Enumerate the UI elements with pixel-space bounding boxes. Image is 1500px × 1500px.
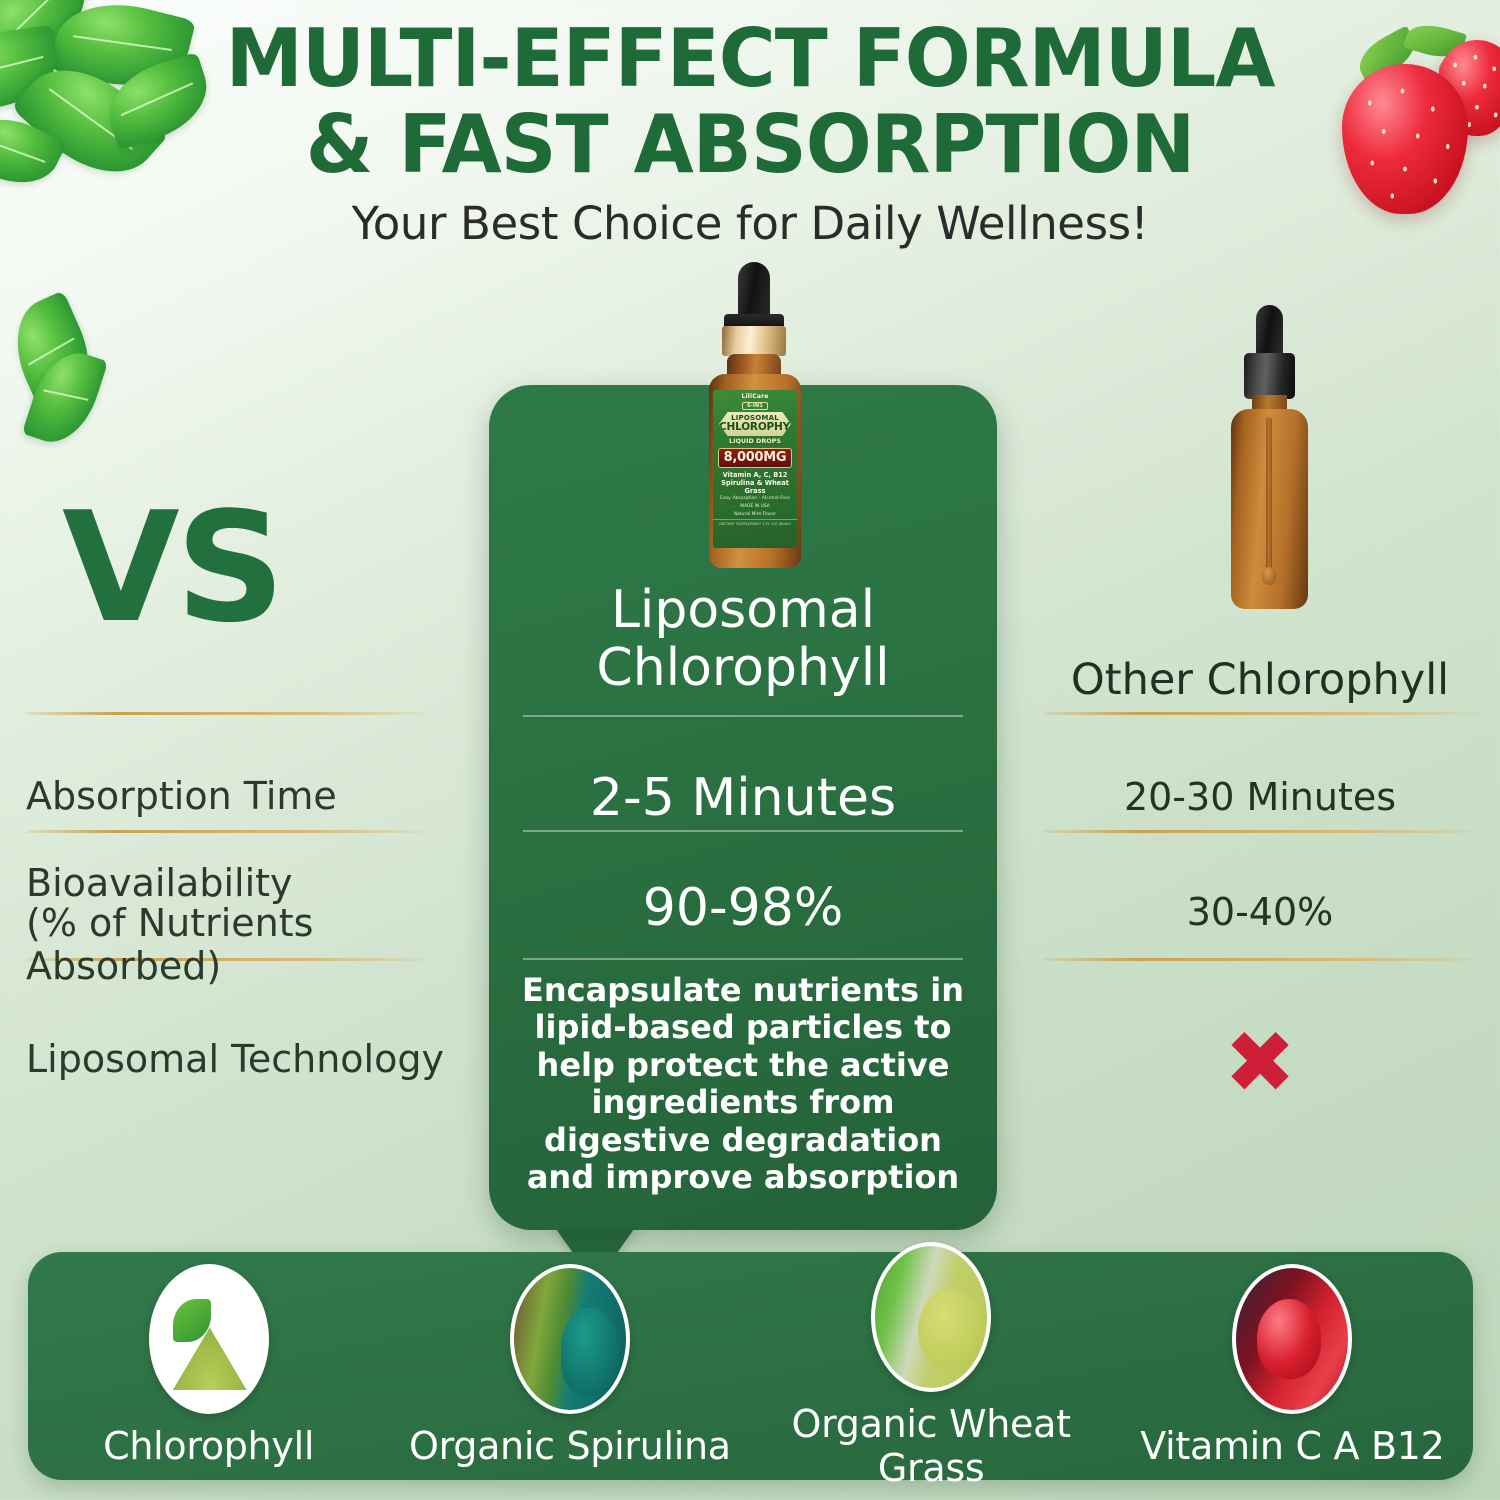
label-origin: MADE IN USA xyxy=(713,504,797,509)
ingredient-label: Chlorophyll xyxy=(28,1424,389,1468)
label-strength: 8,000MG xyxy=(718,448,792,468)
other-value-liposomal-technology-x-icon: ✖ xyxy=(1043,1020,1477,1106)
row-label-bioavailability: Bioavailability xyxy=(26,862,456,905)
competitor-dropper-cap xyxy=(1244,353,1295,399)
product-bottle-image: LiliCare 6-IN1 LIPOSOMAL CHLOROPHYLL LIQ… xyxy=(697,262,813,572)
row-label-liposomal-technology: Liposomal Technology xyxy=(26,1038,456,1081)
card-divider-2 xyxy=(523,830,963,832)
label-claims: Easy Absorption - Alcohol-Free xyxy=(713,496,797,501)
row-divider-left-1 xyxy=(26,712,426,715)
product-card-title: Liposomal Chlorophyll xyxy=(489,581,997,697)
label-supplement-facts: DIETARY SUPPLEMENT 2 FL OZ (60ml) xyxy=(713,519,797,526)
ingredient-item: Organic Spirulina xyxy=(389,1264,750,1468)
label-brand: LiliCare xyxy=(713,393,797,400)
label-name-block: LIPOSOMAL CHLOROPHYLL xyxy=(719,412,791,436)
label-botanicals: Spirulina & Wheat Grass xyxy=(713,479,797,495)
competitor-pipette-tip xyxy=(1262,567,1276,585)
dropper-gold-band xyxy=(722,326,786,356)
other-chlorophyll-title: Other Chlorophyll xyxy=(1043,655,1477,705)
ingredient-label: Organic Wheat Grass xyxy=(751,1402,1112,1490)
label-name-line2: CHLOROPHYLL xyxy=(719,422,791,433)
card-divider-3 xyxy=(523,958,963,960)
row-divider-left-2 xyxy=(26,830,426,833)
ingredient-label: Organic Spirulina xyxy=(389,1424,750,1468)
other-value-absorption-time: 20-30 Minutes xyxy=(1043,775,1477,819)
competitor-bottle-image xyxy=(1226,305,1312,611)
label-vitamins: Vitamin A, C, B12 xyxy=(713,471,797,479)
product-value-bioavailability: 90-98% xyxy=(489,878,997,938)
chlorophyll-powder-icon xyxy=(149,1264,269,1414)
product-card-title-line1: Liposomal xyxy=(489,581,997,639)
product-value-liposomal-technology: Encapsulate nutrients in lipid-based par… xyxy=(517,972,969,1197)
other-value-bioavailability: 30-40% xyxy=(1043,890,1477,934)
ingredient-item: Vitamin C A B12 xyxy=(1112,1264,1473,1468)
row-label-absorption-time: Absorption Time xyxy=(26,775,456,818)
row-divider-right-1 xyxy=(1043,712,1477,715)
competitor-pipette xyxy=(1266,417,1272,577)
label-form: LIQUID DROPS xyxy=(729,437,781,445)
row-divider-right-2 xyxy=(1043,830,1477,833)
ingredients-strip: Chlorophyll Organic Spirulina Organic Wh… xyxy=(28,1252,1473,1480)
row-label-bioavailability-sub: (% of Nutrients Absorbed) xyxy=(26,902,456,989)
wheat-grass-powder-icon xyxy=(871,1242,991,1392)
ingredient-item: Chlorophyll xyxy=(28,1264,389,1468)
label-flavor: Natural Mint Flavor xyxy=(713,512,797,517)
row-divider-right-3 xyxy=(1043,958,1477,961)
ingredient-label: Vitamin C A B12 xyxy=(1112,1424,1473,1468)
spirulina-powder-icon xyxy=(510,1264,630,1414)
label-count-badge: 6-IN1 xyxy=(742,402,768,410)
card-divider-1 xyxy=(523,715,963,717)
bottle-label: LiliCare 6-IN1 LIPOSOMAL CHLOROPHYLL LIQ… xyxy=(713,390,797,548)
ingredient-item: Organic Wheat Grass xyxy=(751,1242,1112,1490)
competitor-dropper-bulb xyxy=(1256,305,1283,359)
product-value-absorption-time: 2-5 Minutes xyxy=(489,768,997,828)
berries-fruit-icon xyxy=(1232,1264,1352,1414)
product-card-title-line2: Chlorophyll xyxy=(489,639,997,697)
